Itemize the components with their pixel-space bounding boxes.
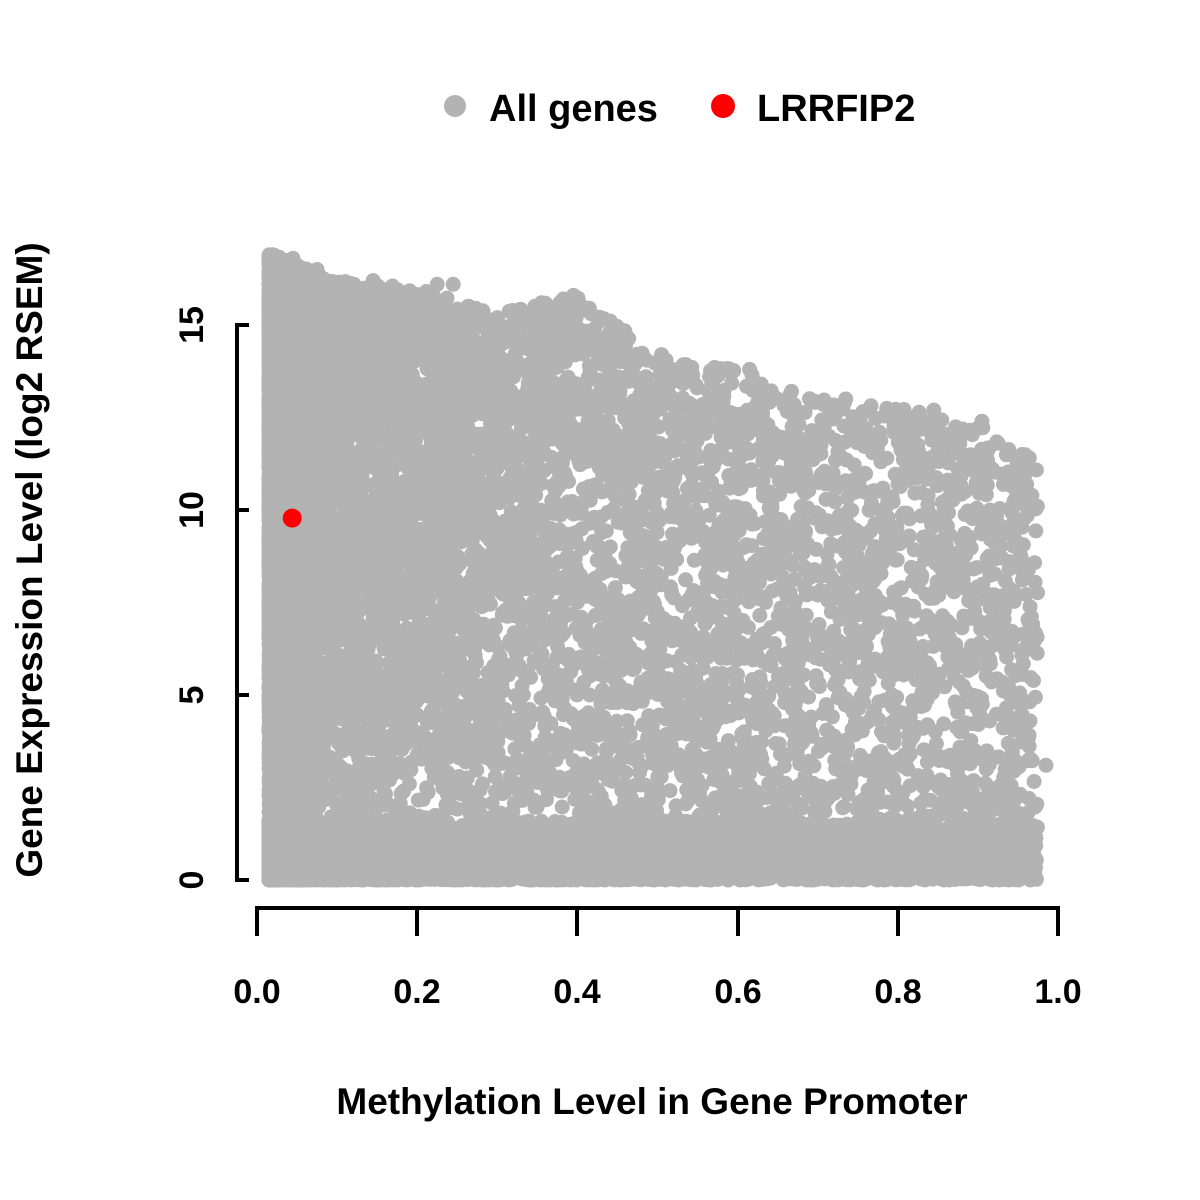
y-tick-label-10: 10 [173,491,211,529]
legend-marker-all-genes [444,95,466,117]
x-tick-label-04: 0.4 [553,973,600,1011]
y-tick-label-5: 5 [173,686,211,705]
x-tick-label-06: 0.6 [714,973,761,1011]
x-axis-title: Methylation Level in Gene Promoter [336,1081,967,1122]
plot-canvas: 0 5 10 15 0.0 0.2 0.4 0.6 0.8 1.0 Methyl… [0,0,1200,1200]
x-tick-label-00: 0.0 [233,973,280,1011]
lrrfip2-point [283,509,302,528]
y-axis-title: Gene Expression Level (log2 RSEM) [9,242,50,877]
legend-label-lrrfip2: LRRFIP2 [757,88,915,130]
scatter-plot-figure: 0 5 10 15 0.0 0.2 0.4 0.6 0.8 1.0 Methyl… [0,0,1200,1200]
x-tick-label-08: 0.8 [874,973,921,1011]
x-tick-label-02: 0.2 [393,973,440,1011]
series-lrrfip2-points [283,509,302,528]
legend-marker-lrrfip2 [711,94,735,118]
y-tick-label-0: 0 [173,871,211,890]
y-tick-label-15: 15 [173,306,211,344]
legend-label-all-genes: All genes [489,88,658,130]
x-tick-label-10: 1.0 [1034,973,1081,1011]
